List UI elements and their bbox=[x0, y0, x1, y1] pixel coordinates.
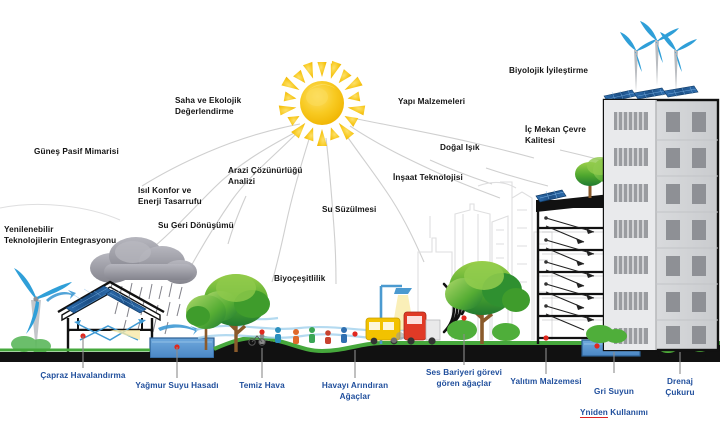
label-temiz-hava[interactable]: Temiz Hava bbox=[239, 381, 284, 392]
label-isil-konfor-ve-enerji-tasarrufu: Isıl Konfor ve Enerji Tasarrufu bbox=[138, 186, 202, 207]
label-biyolojik-iyilestirme: Biyolojik İyileştirme bbox=[509, 66, 588, 77]
sun-icon bbox=[279, 61, 365, 146]
label-capraz-havalandirma[interactable]: Çapraz Havalandırma bbox=[40, 371, 125, 382]
label-drenaj-cukuru[interactable]: Drenaj Çukuru bbox=[660, 377, 700, 398]
label-biyocesitlilik: Biyoçeşitlilik bbox=[274, 274, 325, 285]
kullanimi-word: Kullanımı bbox=[608, 408, 648, 417]
misspelled-word-yniden: Yniden bbox=[580, 408, 608, 418]
label-yagmur-suyu-hasadi[interactable]: Yağmur Suyu Hasadı bbox=[135, 381, 218, 392]
label-ic-mekan-cevre-kalitesi: İç Mekan Çevre Kalitesi bbox=[525, 125, 586, 146]
label-havayi-arindiran-agaclar[interactable]: Havayı Arındıran Ağaçlar bbox=[322, 381, 388, 402]
label-ses-bariyeri-gorevi-goren-agaclar[interactable]: Ses Bariyeri görevi gören ağaçlar bbox=[426, 368, 502, 389]
label-insaat-teknolojisi: İnşaat Teknolojisi bbox=[393, 173, 463, 184]
background-skyline bbox=[0, 182, 552, 340]
tree-noise-barrier bbox=[445, 261, 530, 344]
label-su-suzulmesi: Su Süzülmesi bbox=[322, 205, 376, 216]
rainwater-basin bbox=[150, 338, 214, 358]
tower-wind-turbines bbox=[620, 21, 697, 92]
infographic-canvas: Saha ve Ekolojik Değerlendirme Güneş Pas… bbox=[0, 0, 720, 427]
label-arazi-cozunurlugu-analizi: Arazi Çözünürlüğü Analizi bbox=[228, 166, 302, 187]
label-yapi-malzemeleri: Yapı Malzemeleri bbox=[398, 97, 465, 108]
label-gri-suyun-yniden-kullanimi[interactable]: Gri Suyun Yniden Kullanımı bbox=[580, 376, 648, 418]
tower-block bbox=[604, 21, 718, 350]
label-gunes-pasif-mimarisi: Güneş Pasif Mimarisi bbox=[34, 147, 119, 158]
label-saha-ve-ekolojik-degerlendirme: Saha ve Ekolojik Değerlendirme bbox=[175, 96, 241, 117]
gri-suyun-line1: Gri Suyun bbox=[594, 387, 634, 396]
label-dogal-isik: Doğal Işık bbox=[440, 143, 480, 154]
label-yalitim-malzemesi[interactable]: Yalıtım Malzemesi bbox=[510, 377, 581, 388]
label-yenilenebilir-teknolojilerin-entegrasyonu: Yenilenebilir Teknolojilerin Entegrasyon… bbox=[4, 225, 116, 246]
label-su-geri-donusumu: Su Geri Dönüşümü bbox=[158, 221, 234, 232]
